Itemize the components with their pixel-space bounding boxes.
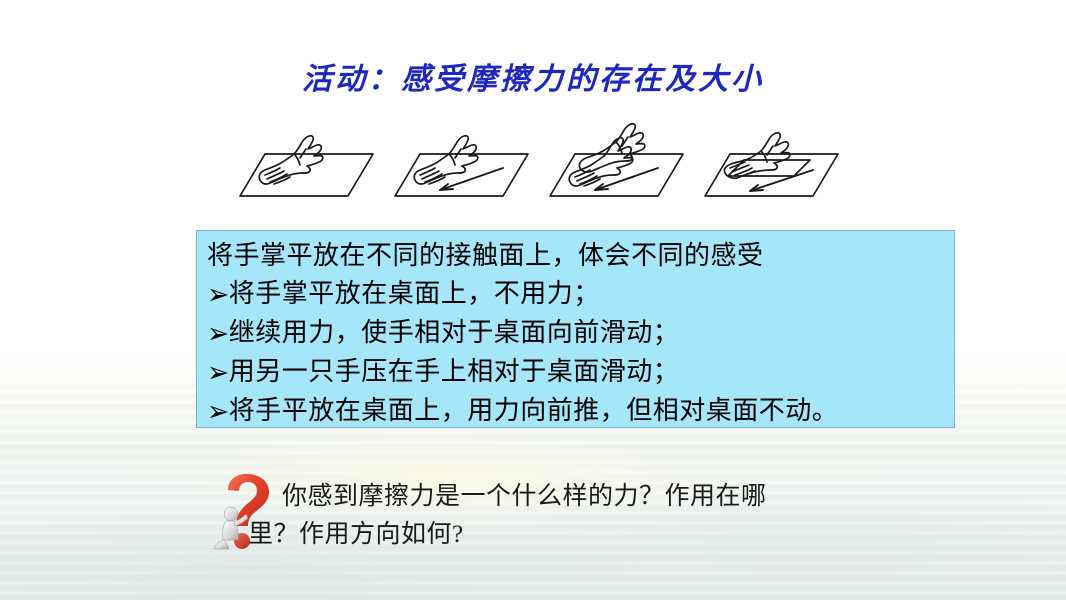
page-title: 活动：感受摩擦力的存在及大小 bbox=[0, 54, 1066, 98]
figure-hand-on-cloth-pushing-not-moving bbox=[705, 133, 838, 196]
instruction-line: ➢将手平放在桌面上，用力向前推，但相对桌面不动。 bbox=[207, 392, 954, 431]
instruction-text: 将手掌平放在桌面上，不用力； bbox=[229, 279, 600, 308]
instruction-text: 将手掌平放在不同的接触面上，体会不同的感受 bbox=[207, 241, 764, 270]
figure-hand-flat-on-surface-no-force bbox=[240, 136, 373, 196]
arrow-bullet-icon: ➢ bbox=[207, 388, 230, 436]
question-block: 你感到摩擦力是一个什么样的力？作用在哪 里？作用方向如何? bbox=[212, 470, 932, 560]
illustration-svg bbox=[210, 118, 860, 213]
friction-direction-arrow bbox=[750, 170, 813, 191]
instruction-line: ➢继续用力，使手相对于桌面向前滑动； bbox=[207, 314, 954, 353]
figure-hand-sliding-on-surface bbox=[395, 136, 528, 196]
instruction-line: ➢将手掌平放在桌面上，不用力； bbox=[207, 275, 954, 314]
question-mark-icon bbox=[212, 472, 280, 552]
friction-direction-arrow bbox=[595, 168, 658, 190]
question-text: 你感到摩擦力是一个什么样的力？作用在哪 里？作用方向如何? bbox=[248, 478, 948, 554]
hand-friction-illustrations bbox=[210, 118, 860, 213]
instruction-line: ➢用另一只手压在手上相对于桌面滑动； bbox=[207, 353, 954, 392]
instruction-text: 将手平放在桌面上，用力向前推，但相对桌面不动。 bbox=[229, 396, 839, 425]
friction-direction-arrow bbox=[440, 168, 503, 190]
slide-canvas: 活动：感受摩擦力的存在及大小 bbox=[0, 0, 1066, 600]
instruction-text: 用另一只手压在手上相对于桌面滑动； bbox=[229, 357, 680, 386]
question-line-2: 里？作用方向如何? bbox=[248, 516, 948, 554]
instructions-box: 将手掌平放在不同的接触面上，体会不同的感受 ➢将手掌平放在桌面上，不用力； ➢继… bbox=[196, 230, 955, 428]
question-line-1: 你感到摩擦力是一个什么样的力？作用在哪 bbox=[248, 478, 948, 516]
figure-two-hands-pressing-and-sliding bbox=[550, 124, 683, 196]
instruction-text: 继续用力，使手相对于桌面向前滑动； bbox=[229, 318, 680, 347]
instruction-line: 将手掌平放在不同的接触面上，体会不同的感受 bbox=[207, 237, 954, 275]
